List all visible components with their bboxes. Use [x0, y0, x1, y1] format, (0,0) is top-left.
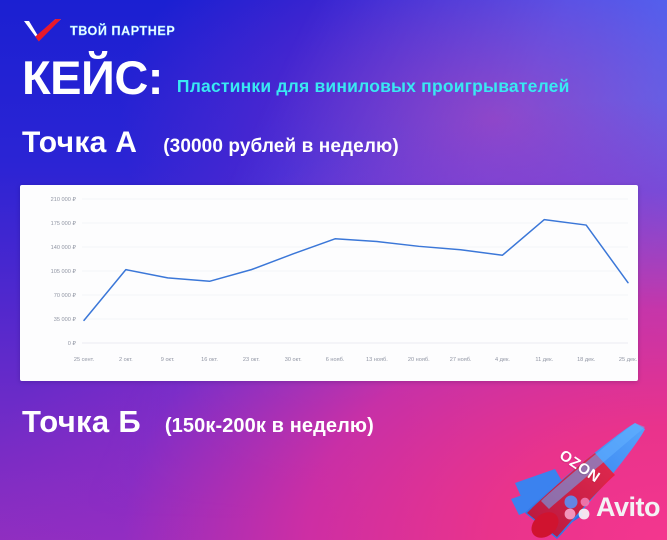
chart-x-tick-label: 13 нояб. [366, 357, 388, 363]
chart-y-tick-label: 35 000 ₽ [54, 316, 77, 323]
chart-y-tick-label: 140 000 ₽ [51, 244, 77, 251]
chart-x-tick-label: 6 нояб. [326, 357, 345, 363]
chart-y-tick-label: 105 000 ₽ [51, 268, 77, 275]
headline: КЕЙС: Пластинки для виниловых проигрыват… [22, 56, 570, 101]
chart-series-group [84, 220, 628, 321]
chart-x-tick-label: 20 нояб. [408, 357, 430, 363]
revenue-chart-card: 0 ₽35 000 ₽70 000 ₽105 000 ₽140 000 ₽175… [20, 185, 638, 381]
chart-x-tick-label: 27 нояб. [450, 357, 472, 363]
point-a-value: (30000 рублей в неделю) [163, 136, 399, 158]
chart-x-tick-label: 25 сент. [74, 357, 95, 363]
chart-x-tick-label: 9 окт. [161, 357, 175, 363]
brand-logo: ТВОЙ ПАРТНЕР [22, 18, 175, 44]
point-b-label: Точка Б [22, 404, 141, 440]
brand-logo-text: ТВОЙ ПАРТНЕР [70, 24, 175, 38]
avito-dots-icon [563, 495, 593, 521]
chart-x-tick-label: 4 дек. [495, 357, 510, 363]
chart-x-tick-label: 16 окт. [201, 357, 218, 363]
chart-x-tick-label: 23 окт. [243, 357, 260, 363]
point-b-row: Точка Б (150к-200к в неделю) [22, 404, 374, 440]
headline-subject: Пластинки для виниловых проигрывателей [177, 78, 570, 101]
chart-x-tick-label: 18 дек. [577, 357, 596, 363]
avito-watermark: Avito [563, 494, 660, 521]
chart-y-tick-label: 175 000 ₽ [51, 220, 77, 227]
rocket-icon [497, 421, 647, 540]
chart-x-tick-label: 2 окт. [119, 357, 133, 363]
point-a-label: Точка А [22, 126, 137, 160]
chart-gridlines [82, 199, 628, 343]
rocket-graphic: OZON [497, 421, 647, 540]
chart-line-Выручка [84, 220, 628, 321]
headline-kicker: КЕЙС: [22, 56, 163, 101]
revenue-line-chart: 0 ₽35 000 ₽70 000 ₽105 000 ₽140 000 ₽175… [20, 185, 638, 381]
chart-x-tick-label: 25 дек. [619, 357, 638, 363]
avito-wordmark: Avito [596, 494, 660, 521]
point-a-row: Точка А (30000 рублей в неделю) [22, 126, 399, 160]
chart-y-tick-label: 70 000 ₽ [54, 292, 77, 299]
check-mark-icon [22, 18, 64, 44]
chart-y-tick-label: 210 000 ₽ [51, 196, 77, 203]
chart-y-tick-label: 0 ₽ [68, 340, 77, 347]
chart-y-axis: 0 ₽35 000 ₽70 000 ₽105 000 ₽140 000 ₽175… [51, 196, 77, 347]
chart-x-axis: 25 сент.2 окт.9 окт.16 окт.23 окт.30 окт… [74, 357, 638, 363]
point-b-value: (150к-200к в неделю) [165, 415, 374, 438]
chart-x-tick-label: 11 дек. [535, 357, 553, 363]
chart-x-tick-label: 30 окт. [285, 357, 302, 363]
